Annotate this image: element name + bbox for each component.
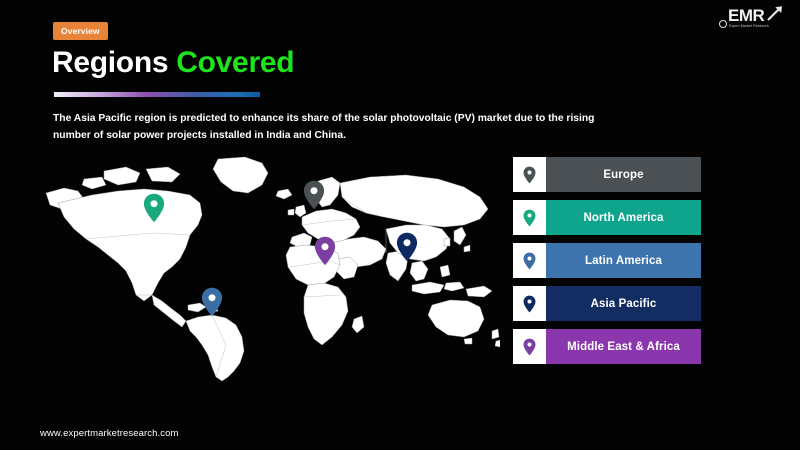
- logo-tagline: Expert Market Research: [729, 24, 769, 28]
- page-title-part2: Covered: [176, 46, 294, 79]
- legend-label-north-america: North America: [546, 200, 701, 235]
- slide-root: EMR Expert Market Research Overview Regi…: [0, 0, 800, 450]
- emr-logo: EMR Expert Market Research: [714, 6, 790, 34]
- map-pin-europe[interactable]: [303, 180, 325, 210]
- world-map-svg: [40, 155, 500, 385]
- map-pin-icon: [513, 243, 546, 278]
- legend-row-middle-east-africa[interactable]: Middle East & Africa: [513, 329, 701, 364]
- legend-row-latin-america[interactable]: Latin America: [513, 243, 701, 278]
- map-pin-latin-america[interactable]: [201, 287, 223, 317]
- legend-label-asia-pacific: Asia Pacific: [546, 286, 701, 321]
- logo-wordmark: EMR: [728, 7, 764, 24]
- legend-row-north-america[interactable]: North America: [513, 200, 701, 235]
- map-pin-asia-pacific[interactable]: [396, 232, 418, 262]
- intro-line-2: number of solar power projects installed…: [53, 127, 697, 144]
- world-map: [40, 155, 500, 385]
- overview-badge: Overview: [53, 22, 108, 40]
- map-pin-icon: [513, 200, 546, 235]
- map-pin-icon: [513, 157, 546, 192]
- map-pin-icon: [513, 286, 546, 321]
- intro-line-1: The Asia Pacific region is predicted to …: [53, 113, 594, 124]
- legend-label-europe: Europe: [546, 157, 701, 192]
- accent-divider: [54, 92, 260, 97]
- legend-label-middle-east-africa: Middle East & Africa: [546, 329, 701, 364]
- regions-legend: Europe North America Latin America Asia …: [513, 157, 701, 372]
- legend-label-latin-america: Latin America: [546, 243, 701, 278]
- page-title-part1: Regions: [52, 46, 176, 79]
- growth-arrow-icon: [766, 5, 784, 21]
- page-title: Regions Covered: [52, 44, 294, 82]
- magnifier-ring-icon: [719, 20, 727, 28]
- legend-row-asia-pacific[interactable]: Asia Pacific: [513, 286, 701, 321]
- footer-website-url[interactable]: www.expertmarketresearch.com: [40, 428, 178, 439]
- legend-row-europe[interactable]: Europe: [513, 157, 701, 192]
- map-pin-icon: [513, 329, 546, 364]
- intro-paragraph: The Asia Pacific region is predicted to …: [53, 110, 697, 144]
- map-pin-north-america[interactable]: [143, 193, 165, 223]
- map-pin-middle-east-africa[interactable]: [314, 236, 336, 266]
